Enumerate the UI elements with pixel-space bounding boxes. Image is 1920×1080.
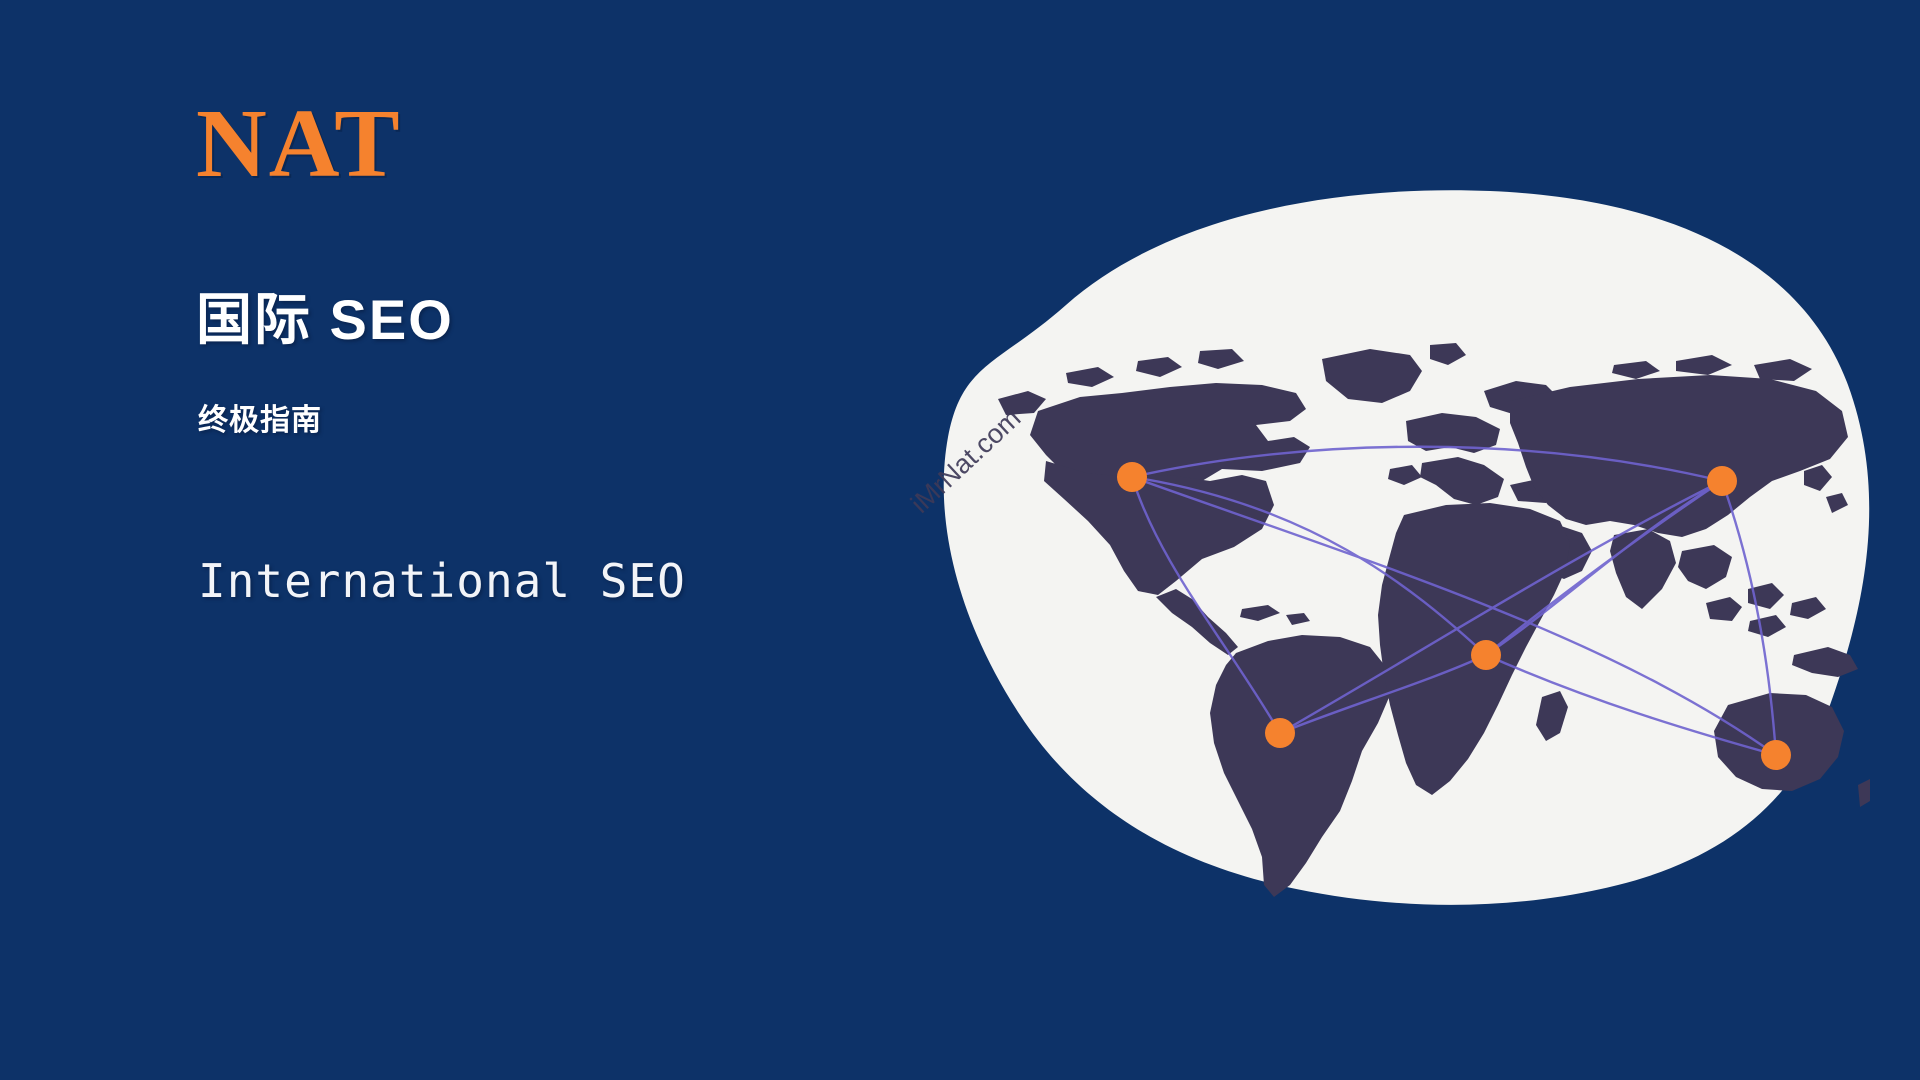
title-block: NAT 国际 SEO 终极指南 International SEO: [192, 95, 892, 608]
world-map-illustration: [870, 185, 1870, 925]
marker-oceania: [1761, 740, 1791, 770]
page-title: 国际 SEO: [196, 289, 892, 351]
latin-title: International SEO: [198, 554, 892, 608]
marker-north-america: [1117, 462, 1147, 492]
marker-south-america: [1265, 718, 1295, 748]
marker-asia: [1707, 466, 1737, 496]
brand-logo: NAT: [196, 95, 892, 193]
slide-canvas: NAT 国际 SEO 终极指南 International SEO: [0, 0, 1920, 1080]
page-subtitle: 终极指南: [198, 395, 892, 439]
marker-africa: [1471, 640, 1501, 670]
